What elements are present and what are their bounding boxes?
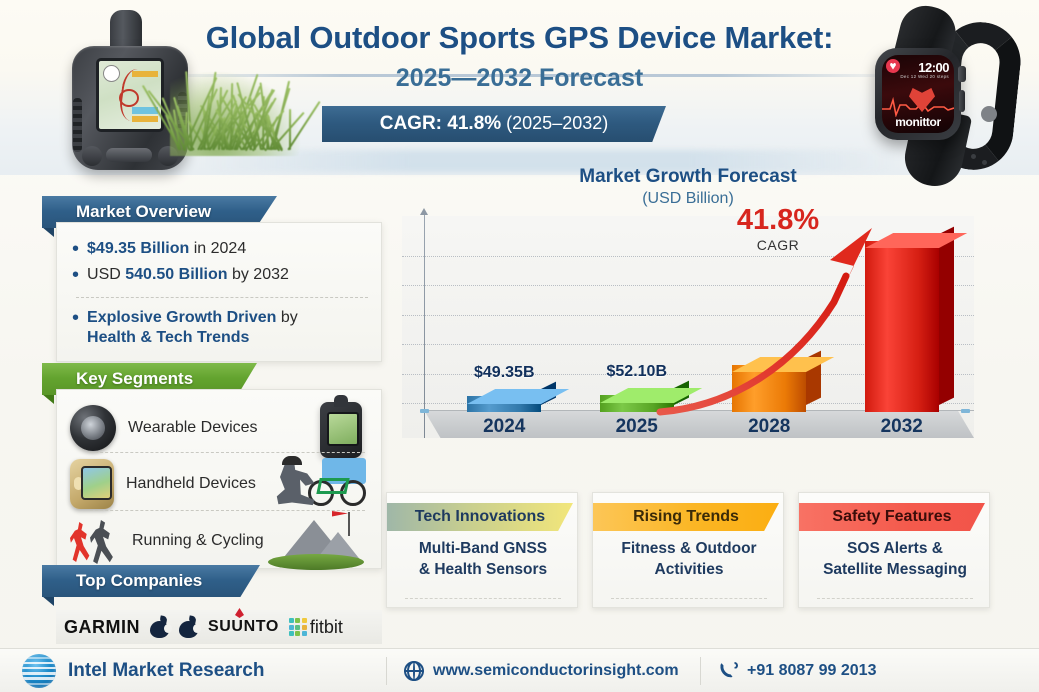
cagr-banner: CAGR: 41.8% (2025–2032) bbox=[322, 106, 666, 142]
segments-divider-1 bbox=[90, 452, 365, 453]
watch-band-hole bbox=[981, 106, 997, 122]
logo-stripe bbox=[22, 657, 56, 659]
chart-title: Market Growth Forecast bbox=[386, 166, 990, 188]
segment-label-handheld: Handheld Devices bbox=[126, 475, 256, 493]
page-subtitle: 2025—2032 Forecast bbox=[0, 64, 1039, 93]
feature-card-tech-innovations[interactable]: Tech Innovations Multi-Band GNSS& Health… bbox=[386, 492, 578, 608]
footer-divider bbox=[700, 657, 701, 685]
chart-x-tick: 2025 bbox=[567, 416, 707, 438]
watch-band-hole bbox=[971, 154, 976, 159]
bullet-icon: • bbox=[72, 265, 79, 285]
grass-blade bbox=[289, 109, 291, 150]
fitbit-dot bbox=[302, 618, 307, 623]
feature-body-rising-trends: Fitness & OutdoorActivities bbox=[593, 539, 785, 581]
phone-icon bbox=[718, 661, 738, 681]
phone-group[interactable]: +91 8087 99 2013 bbox=[718, 661, 876, 681]
bar-value-label: $52.10B bbox=[567, 363, 707, 381]
top-companies-tab-label: Top Companies bbox=[76, 571, 202, 591]
chart-plot-area bbox=[402, 216, 974, 438]
segment-row-running[interactable]: Running & Cycling bbox=[70, 514, 370, 568]
cyclist-person bbox=[276, 462, 316, 506]
feature-body-safety-features: SOS Alerts &Satellite Messaging bbox=[799, 539, 991, 581]
fitbit-dot bbox=[289, 618, 294, 623]
overview-bullet-2-text: USD 540.50 Billion by 2032 bbox=[87, 265, 289, 285]
feature-cards-strip: Tech Innovations Multi-Band GNSS& Health… bbox=[386, 492, 990, 608]
feature-underline bbox=[817, 598, 973, 599]
overview-bullet-1-text: $49.35 Billion in 2024 bbox=[87, 239, 246, 259]
segment-label-running: Running & Cycling bbox=[132, 532, 264, 550]
runners-icon bbox=[70, 518, 120, 564]
top-companies-tab[interactable]: Top Companies bbox=[42, 565, 260, 597]
apple-logo bbox=[179, 616, 198, 638]
bar-top bbox=[600, 388, 702, 403]
watch-brand-label: monittor bbox=[882, 115, 954, 129]
axis-cap-right bbox=[961, 409, 970, 413]
market-growth-chart: Market Growth Forecast (USD Billion) 41.… bbox=[386, 160, 990, 480]
suunto-mark-icon bbox=[235, 608, 244, 618]
segment-row-wearable[interactable]: Wearable Devices bbox=[70, 400, 370, 456]
market-overview-bullets: • $49.35 Billion in 2024 • USD 540.50 Bi… bbox=[72, 237, 372, 349]
runner-grey-icon bbox=[90, 520, 116, 564]
website-text: www.semiconductorinsight.com bbox=[433, 662, 679, 680]
logo-stripe bbox=[22, 683, 56, 685]
mountain-grass bbox=[268, 554, 364, 570]
segment-row-handheld[interactable]: Handheld Devices bbox=[70, 456, 370, 512]
fitbit-dot bbox=[289, 631, 294, 636]
suunto-logo: SUUNTO bbox=[208, 618, 279, 636]
watch-side-button bbox=[959, 90, 965, 112]
feature-tab-rising-trends: Rising Trends bbox=[593, 503, 779, 531]
gps-map-tag-3 bbox=[132, 116, 158, 122]
apple-logo bbox=[150, 616, 169, 638]
chart-bar bbox=[865, 241, 939, 412]
fitbit-dots-icon bbox=[289, 618, 307, 636]
market-overview-tab-label: Market Overview bbox=[76, 202, 211, 222]
feature-underline bbox=[611, 598, 767, 599]
bar-side bbox=[939, 226, 954, 405]
fitbit-dot bbox=[295, 625, 300, 630]
feature-tab-safety-features: Safety Features bbox=[799, 503, 985, 531]
phone-text: +91 8087 99 2013 bbox=[747, 662, 876, 680]
page-title: Global Outdoor Sports GPS Device Market: bbox=[0, 20, 1039, 56]
overview-divider bbox=[76, 297, 368, 298]
feature-body-tech-innovations: Multi-Band GNSS& Health Sensors bbox=[387, 539, 579, 581]
overview-bullet-2: • USD 540.50 Billion by 2032 bbox=[72, 265, 372, 285]
overview-bullet-3-text: Explosive Growth Driven byHealth & Tech … bbox=[87, 308, 298, 349]
cyclist-cap bbox=[282, 456, 302, 465]
brand-name: Intel Market Research bbox=[68, 660, 264, 682]
key-segments-tab-label: Key Segments bbox=[76, 369, 193, 389]
bike-frame bbox=[316, 478, 349, 494]
bar-value-label: $49.35B bbox=[434, 364, 574, 382]
overview-bullet-3: • Explosive Growth Driven byHealth & Tec… bbox=[72, 308, 372, 349]
logo-stripe bbox=[22, 677, 56, 680]
segments-divider-2 bbox=[90, 510, 365, 511]
top-companies-tab-notch bbox=[42, 596, 54, 606]
logo-stripe bbox=[22, 662, 56, 665]
logo-stripe bbox=[22, 672, 56, 675]
footer-divider bbox=[386, 657, 387, 685]
footer-bar: Intel Market Research www.semiconductori… bbox=[0, 648, 1039, 692]
flag-pole bbox=[348, 512, 350, 536]
fitbit-dot bbox=[295, 631, 300, 636]
cagr-value: 41.8% bbox=[718, 206, 838, 235]
top-companies-logo-bar: GARMIN SUUNTO fitbit bbox=[56, 610, 382, 644]
logo-stripe bbox=[22, 667, 56, 670]
chart-x-tick: 2024 bbox=[434, 416, 574, 438]
watch-case: 12:00 Dec 12 Wed 20 steps monittor bbox=[875, 48, 961, 140]
fitbit-logo: fitbit bbox=[289, 617, 343, 638]
bar-top bbox=[467, 389, 569, 404]
chart-bar bbox=[732, 365, 806, 412]
fitbit-dot bbox=[295, 618, 300, 623]
gps-center-button bbox=[106, 148, 152, 162]
handheld-gps-thumb bbox=[320, 402, 362, 458]
company-logo-icon bbox=[22, 654, 56, 688]
cyclist-thumb bbox=[270, 456, 366, 512]
feature-underline bbox=[405, 598, 561, 599]
axis-cap-left bbox=[420, 409, 429, 413]
gps-grip-left bbox=[73, 98, 82, 152]
bullet-icon: • bbox=[72, 308, 79, 349]
handheld-knob bbox=[74, 477, 83, 490]
feature-card-rising-trends[interactable]: Rising Trends Fitness & OutdoorActivitie… bbox=[592, 492, 784, 608]
infographic-root: 12:00 Dec 12 Wed 20 steps monittor Globa… bbox=[0, 0, 1039, 692]
smartwatch-round-icon bbox=[70, 405, 116, 451]
market-overview-tab-notch bbox=[42, 227, 54, 237]
fitbit-dot bbox=[289, 625, 294, 630]
globe-icon bbox=[404, 661, 424, 681]
cagr-caption: CAGR bbox=[718, 237, 838, 253]
gps-thumb-antenna bbox=[334, 395, 348, 407]
segment-label-wearable: Wearable Devices bbox=[128, 419, 258, 437]
feature-tab-tech-innovations: Tech Innovations bbox=[387, 503, 573, 531]
chart-subtitle: (USD Billion) bbox=[386, 190, 990, 208]
cagr-annotation: 41.8% CAGR bbox=[718, 206, 838, 253]
garmin-logo: GARMIN bbox=[64, 617, 140, 638]
fitbit-dot bbox=[302, 625, 307, 630]
cagr-banner-range: (2025–2032) bbox=[501, 113, 608, 133]
cagr-banner-bold: CAGR: 41.8% bbox=[380, 113, 501, 134]
overview-bullet-1: • $49.35 Billion in 2024 bbox=[72, 239, 372, 259]
chart-x-tick: 2028 bbox=[699, 416, 839, 438]
chart-bar bbox=[467, 396, 541, 412]
runner-red-icon bbox=[70, 522, 92, 562]
fitbit-dot bbox=[302, 631, 307, 636]
feature-card-safety-features[interactable]: Safety Features SOS Alerts &Satellite Me… bbox=[798, 492, 990, 608]
gps-left-button bbox=[82, 146, 102, 166]
cagr-banner-text: CAGR: 41.8% (2025–2032) bbox=[380, 113, 609, 135]
bullet-icon: • bbox=[72, 239, 79, 259]
handheld-gps-icon bbox=[70, 459, 114, 509]
chart-x-tick: 2032 bbox=[832, 416, 972, 438]
mountain-thumb bbox=[266, 514, 366, 572]
website-group[interactable]: www.semiconductorinsight.com bbox=[404, 661, 679, 681]
chart-bar bbox=[600, 395, 674, 412]
bar-front bbox=[865, 241, 939, 412]
key-segments-tab-notch bbox=[42, 394, 54, 404]
